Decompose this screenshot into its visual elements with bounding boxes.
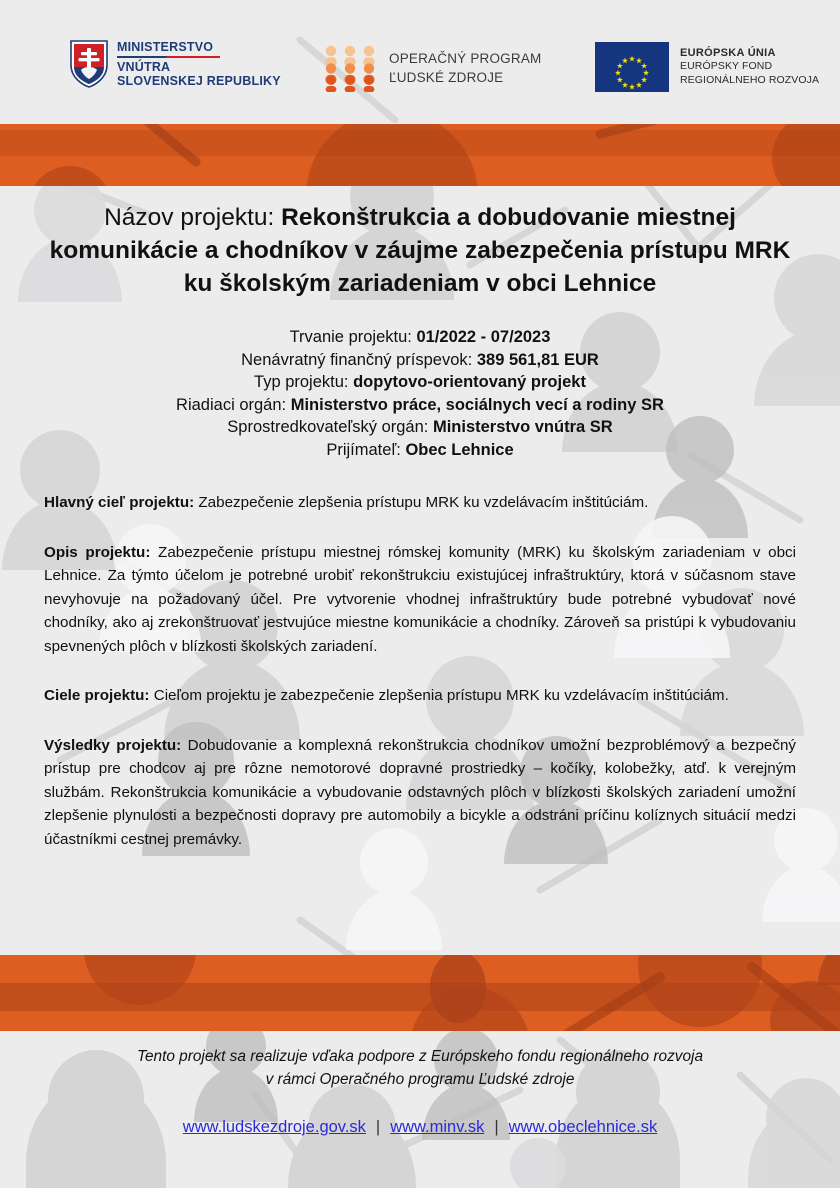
fact-duration: Trvanie projektu: 01/2022 - 07/2023 [40,326,800,349]
op-line-1: OPERAČNÝ PROGRAM [389,49,541,68]
fact-managing-authority-label: Riadiaci orgán: [176,396,286,414]
eu-logo-text: EURÓPSKA ÚNIA EURÓPSKY FOND REGIONÁLNEHO… [680,47,819,88]
link-obeclehnice[interactable]: www.obeclehnice.sk [509,1118,658,1136]
people-grid-icon [322,44,378,92]
fact-intermediate-body-value: Ministerstvo vnútra SR [433,418,613,436]
op-line-2: ĽUDSKÉ ZDROJE [389,68,541,87]
silhouette [510,1138,566,1188]
ministry-line-1: MINISTERSTVO [117,40,213,56]
project-sections: Hlavný cieľ projektu: Zabezpečenie zlepš… [0,491,840,851]
fact-beneficiary-label: Prijímateľ: [326,441,401,459]
fact-grant-label: Nenávratný finančný príspevok: [241,351,472,369]
slovak-coat-of-arms-icon [70,40,108,88]
section-objectives: Ciele projektu: Cieľom projektu je zabez… [44,684,796,708]
footer-note-line-2: v rámci Operačného programu Ľudské zdroj… [266,1071,575,1088]
logo-operational-programme: OPERAČNÝ PROGRAM ĽUDSKÉ ZDROJE [322,44,541,92]
fact-type-label: Typ projektu: [254,373,348,391]
poster-footer: Tento projekt sa realizuje vďaka podpore… [0,1031,840,1137]
link-separator-2: | [494,1118,498,1136]
project-facts: Trvanie projektu: 01/2022 - 07/2023 Nená… [0,326,840,461]
eu-line-2: EURÓPSKY FOND [680,60,819,74]
eu-flag-icon [595,42,669,92]
logo-european-union: EURÓPSKA ÚNIA EURÓPSKY FOND REGIONÁLNEHO… [595,42,819,92]
fact-duration-label: Trvanie projektu: [290,328,412,346]
link-separator-1: | [376,1118,380,1136]
fact-type: Typ projektu: dopytovo-orientovaný proje… [40,371,800,394]
fact-intermediate-body-label: Sprostredkovateľský orgán: [227,418,428,436]
section-results-label: Výsledky projektu: [44,737,181,754]
title-label: Názov projektu: [104,204,274,231]
project-information-poster: MINISTERSTVO VNÚTRA SLOVENSKEJ REPUBLIKY [0,0,840,1188]
poster-content: Názov projektu: Rekonštrukcia a dobudova… [0,186,840,851]
link-ludskezdroje[interactable]: www.ludskezdroje.gov.sk [183,1118,366,1136]
fact-grant: Nenávratný finančný príspevok: 389 561,8… [40,349,800,372]
orange-band-bottom [0,955,840,1031]
eu-line-1: EURÓPSKA ÚNIA [680,47,819,61]
logo-ministry-of-interior: MINISTERSTVO VNÚTRA SLOVENSKEJ REPUBLIKY [70,40,281,89]
fact-intermediate-body: Sprostredkovateľský orgán: Ministerstvo … [40,416,800,439]
fact-duration-value: 01/2022 - 07/2023 [416,328,550,346]
section-main-goal-text: Zabezpečenie zlepšenia prístupu MRK ku v… [194,494,648,511]
section-objectives-label: Ciele projektu: [44,687,150,704]
page-title: Názov projektu: Rekonštrukcia a dobudova… [0,186,840,300]
footer-note: Tento projekt sa realizuje vďaka podpore… [0,1031,840,1091]
fact-managing-authority-value: Ministerstvo práce, sociálnych vecí a ro… [291,396,664,414]
ministry-line-2: VNÚTRA [117,60,281,75]
section-description-text: Zabezpečenie prístupu miestnej rómskej k… [44,544,796,655]
section-main-goal: Hlavný cieľ projektu: Zabezpečenie zlepš… [44,491,796,515]
orange-band-top-pattern [0,124,840,186]
footer-note-line-1: Tento projekt sa realizuje vďaka podpore… [137,1048,703,1065]
fact-managing-authority: Riadiaci orgán: Ministerstvo práce, soci… [40,394,800,417]
ministry-line-3: SLOVENSKEJ REPUBLIKY [117,74,281,89]
fact-type-value: dopytovo-orientovaný projekt [353,373,586,391]
op-logo-text: OPERAČNÝ PROGRAM ĽUDSKÉ ZDROJE [389,49,541,87]
orange-band-top [0,124,840,186]
section-description: Opis projektu: Zabezpečenie prístupu mie… [44,541,796,659]
section-objectives-text: Cieľom projektu je zabezpečenie zlepšeni… [150,687,729,704]
footer-links: www.ludskezdroje.gov.sk|www.minv.sk|www.… [0,1118,840,1137]
fact-grant-value: 389 561,81 EUR [477,351,599,369]
orange-band-bottom-pattern [0,955,840,1031]
eu-line-3: REGIONÁLNEHO ROZVOJA [680,74,819,88]
ministry-logo-text: MINISTERSTVO VNÚTRA SLOVENSKEJ REPUBLIKY [117,40,281,89]
logo-header: MINISTERSTVO VNÚTRA SLOVENSKEJ REPUBLIKY [0,0,840,124]
fact-beneficiary-value: Obec Lehnice [405,441,513,459]
section-description-label: Opis projektu: [44,544,150,561]
section-main-goal-label: Hlavný cieľ projektu: [44,494,194,511]
section-results: Výsledky projektu: Dobudovanie a komplex… [44,734,796,852]
link-minv[interactable]: www.minv.sk [390,1118,484,1136]
fact-beneficiary: Prijímateľ: Obec Lehnice [40,439,800,462]
